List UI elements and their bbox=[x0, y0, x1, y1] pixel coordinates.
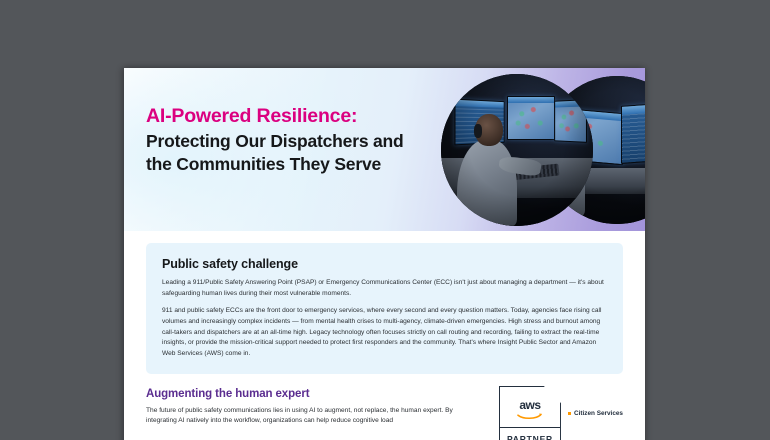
callout-paragraph-1: Leading a 911/Public Safety Answering Po… bbox=[162, 278, 607, 299]
page-title-main: AI-Powered Resilience: bbox=[146, 104, 446, 128]
aws-partner-badge-group: aws PARTNER Citizen Services bbox=[499, 386, 623, 440]
hero-photo-circle bbox=[441, 74, 593, 226]
aws-partner-label: PARTNER bbox=[507, 434, 553, 440]
badge-divider bbox=[500, 427, 560, 428]
aws-logo-wordmark: aws bbox=[519, 399, 540, 411]
page-title-sub-line2: the Communities They Serve bbox=[146, 154, 381, 174]
hero-banner: AI-Powered Resilience: Protecting Our Di… bbox=[124, 68, 645, 231]
section2-text-block: Augmenting the human expert The future o… bbox=[146, 388, 489, 427]
badge-tag-list: Citizen Services bbox=[568, 386, 623, 417]
callout-heading: Public safety challenge bbox=[162, 257, 607, 271]
aws-partner-badge: aws PARTNER bbox=[499, 386, 561, 440]
callout-paragraph-2: 911 and public safety ECCs are the front… bbox=[162, 306, 607, 359]
badge-tag-citizen-services: Citizen Services bbox=[568, 410, 623, 417]
page-title-sub: Protecting Our Dispatchers and the Commu… bbox=[146, 130, 446, 176]
aws-swoosh-icon bbox=[517, 412, 543, 420]
page-title-sub-line1: Protecting Our Dispatchers and bbox=[146, 131, 404, 151]
augmenting-human-expert-section: Augmenting the human expert The future o… bbox=[146, 388, 623, 440]
section2-heading: Augmenting the human expert bbox=[146, 388, 489, 400]
section2-paragraph: The future of public safety communicatio… bbox=[146, 406, 476, 427]
hero-text-block: AI-Powered Resilience: Protecting Our Di… bbox=[146, 104, 446, 177]
public-safety-challenge-callout: Public safety challenge Leading a 911/Pu… bbox=[146, 243, 623, 374]
dispatch-scene-main bbox=[441, 74, 593, 226]
badge-tag-label: Citizen Services bbox=[574, 410, 623, 417]
bullet-dot-icon bbox=[568, 412, 571, 415]
document-body: Public safety challenge Leading a 911/Pu… bbox=[124, 231, 645, 440]
document-page: AI-Powered Resilience: Protecting Our Di… bbox=[124, 68, 645, 440]
